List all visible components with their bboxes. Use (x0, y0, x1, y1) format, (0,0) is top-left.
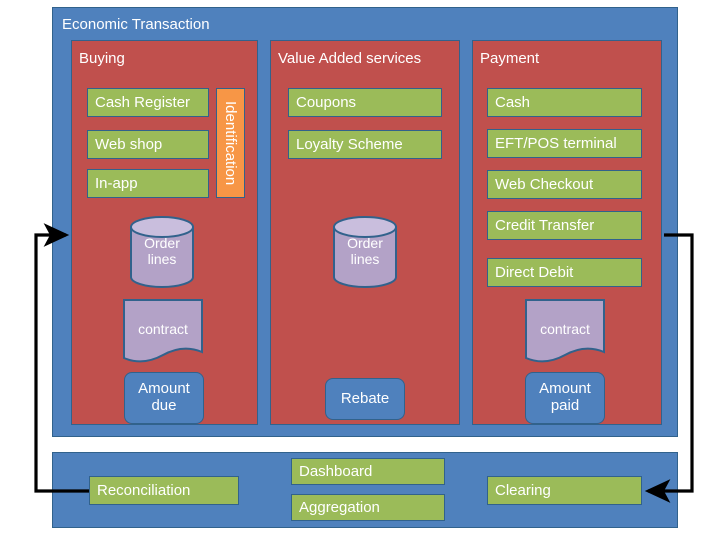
arrow-payment-to-clearing (648, 235, 692, 491)
diagram-canvas: Economic Transaction Buying Cash Registe… (0, 0, 720, 540)
arrow-reconciliation-to-buying (36, 235, 89, 491)
connector-arrows (0, 0, 720, 540)
